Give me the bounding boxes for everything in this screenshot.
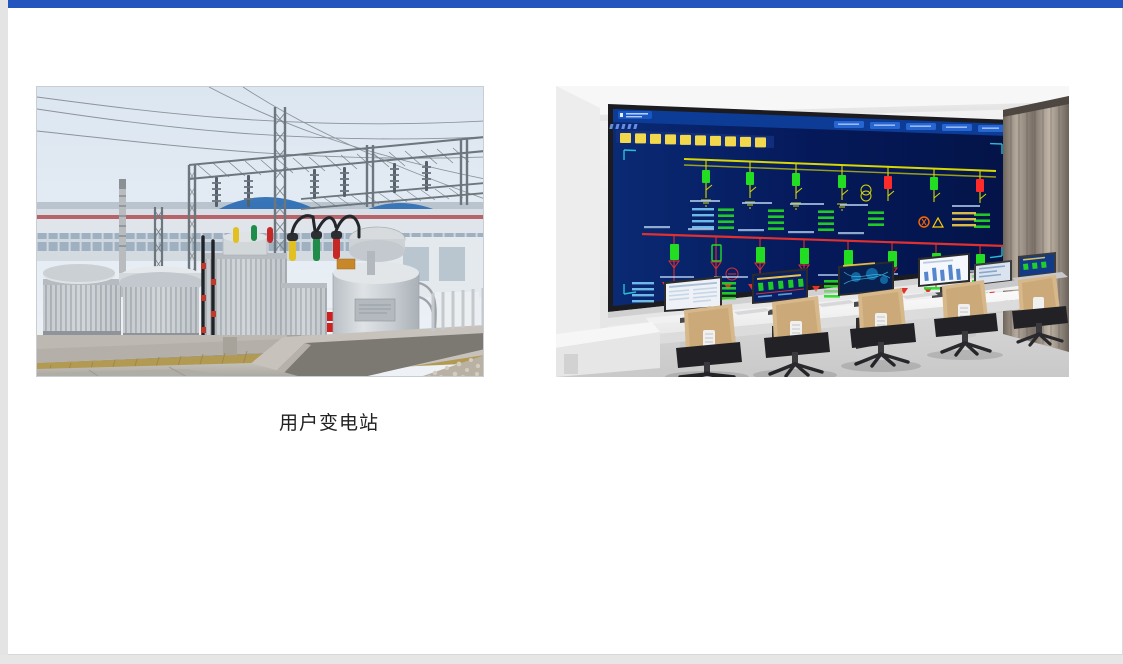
figure-user-substation: 用户变电站 — [36, 86, 484, 377]
figure-substation-automation-system: 变电站综合自动化系统 — [556, 86, 1069, 377]
photo-user-substation — [36, 86, 484, 377]
page-root: 用户变电站 — [0, 0, 1123, 664]
page-left-gutter — [0, 0, 8, 655]
page-bottom-gutter — [0, 655, 1123, 664]
transformer-left-mid — [119, 266, 203, 340]
top-accent-bar — [8, 0, 1123, 8]
control-room-illustration — [556, 86, 1069, 377]
figure-caption-user-substation: 用户变电站 — [72, 408, 586, 435]
photo-substation-automation-system — [556, 86, 1069, 377]
user-substation-illustration — [37, 87, 484, 377]
transformer-left — [43, 264, 121, 338]
figure-caption-substation-automation-system: 变电站综合自动化系统 — [1112, 408, 1123, 435]
